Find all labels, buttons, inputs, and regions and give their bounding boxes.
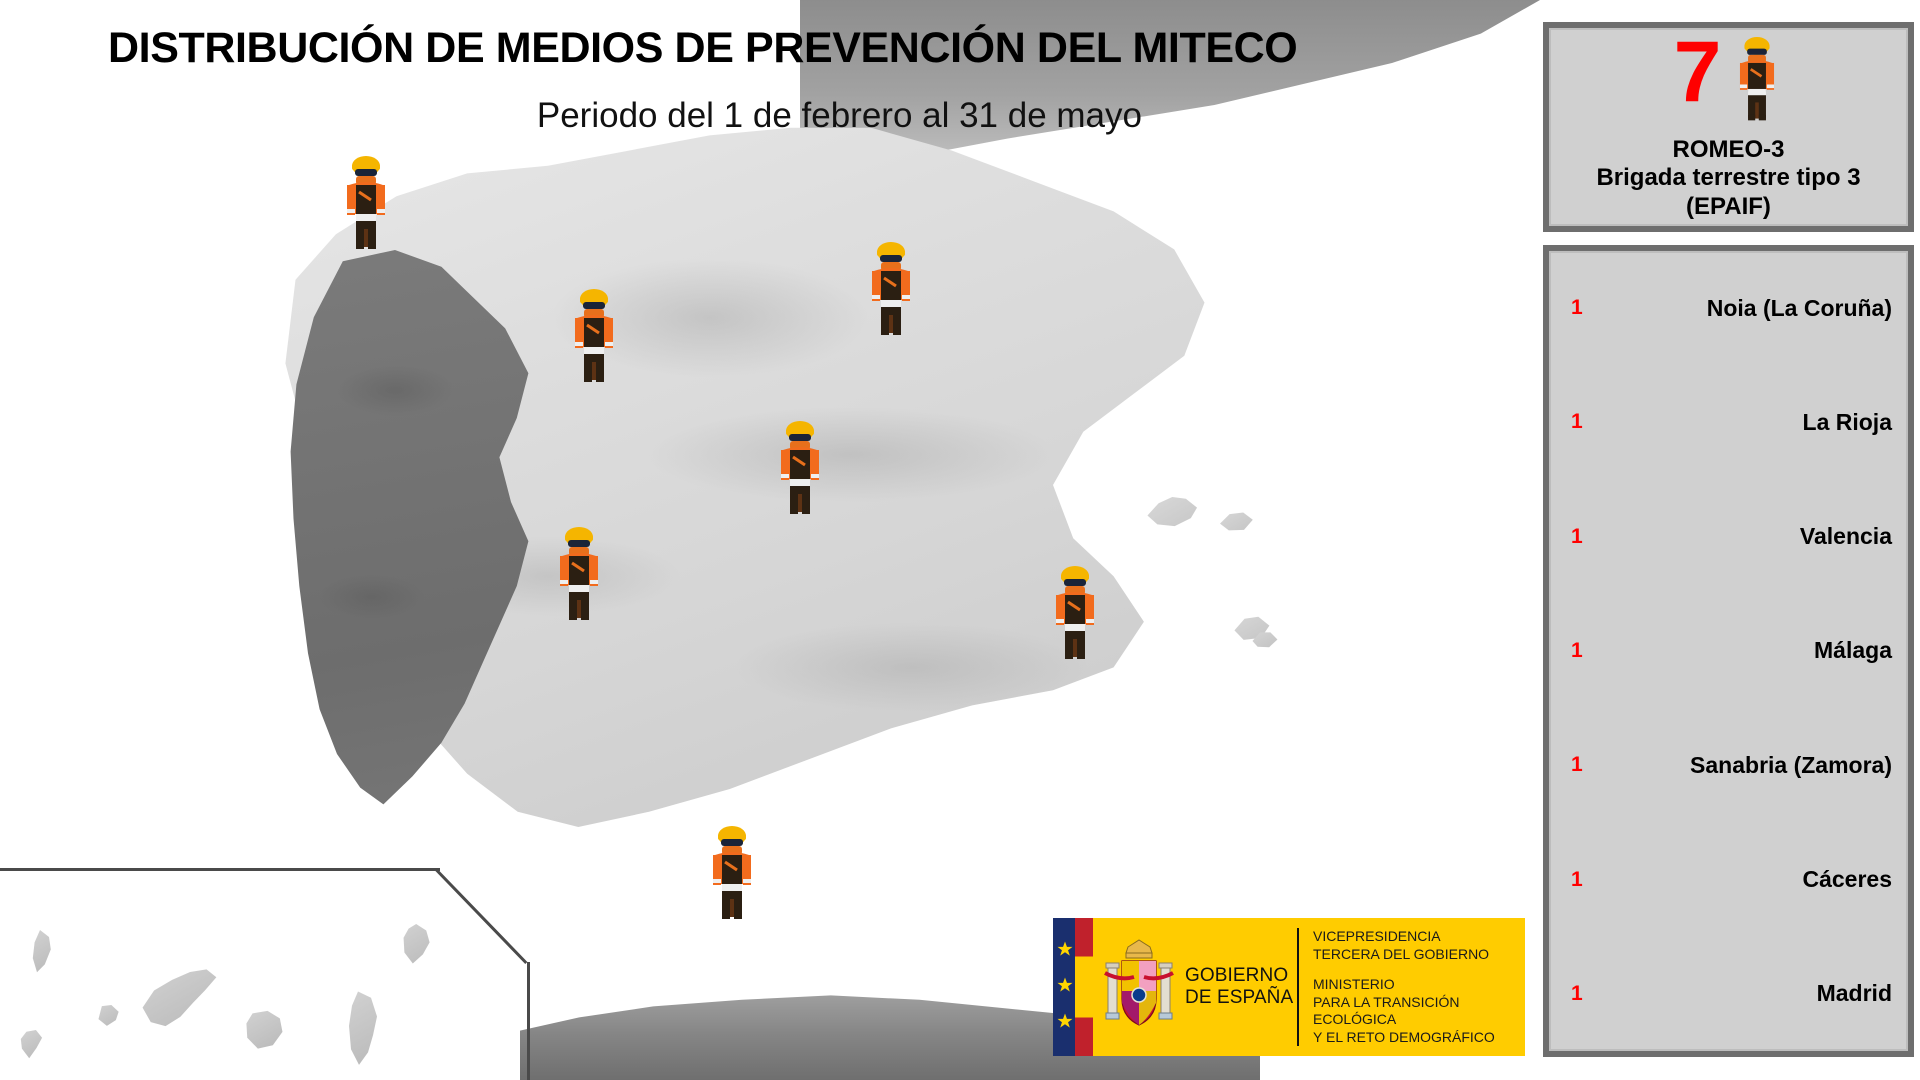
page-subtitle: Periodo del 1 de febrero al 31 de mayo [108,96,1528,136]
location-row[interactable]: 1Cáceres [1549,822,1908,936]
ministry-line-3: MINISTERIO [1313,976,1525,994]
marker-sanabria-zamora[interactable] [565,285,623,389]
location-name: Madrid [1549,980,1908,1007]
location-count: 1 [1571,296,1583,320]
gobierno-line-2: DE ESPAÑA [1185,987,1297,1009]
ministry-line-2: TERCERA DEL GOBIERNO [1313,946,1525,964]
summary-text: ROMEO-3 Brigada terrestre tipo 3 (EPAIF) [1596,136,1860,221]
ministry-line-5: Y EL RETO DEMOGRÁFICO [1313,1029,1525,1047]
location-row[interactable]: 1Valencia [1549,480,1908,594]
star-icon [1056,1012,1074,1035]
resource-code: ROMEO-3 [1596,136,1860,164]
legend-panel: 7 [1537,0,1920,1080]
island-lanzarote [396,924,438,970]
location-count: 1 [1571,525,1583,549]
island-la-palma [28,930,58,974]
resource-summary-card: 7 [1543,22,1914,232]
firefighter-icon [1731,32,1783,128]
location-list: 1Noia (La Coruña)1La Rioja1Valencia1Mála… [1543,245,1914,1057]
island-la-gomera [94,1004,122,1030]
star-icon [1056,940,1074,963]
poster-canvas: DISTRIBUCIÓN DE MEDIOS DE PREVENCIÓN DEL… [0,0,1920,1080]
ministry-line-4: PARA LA TRANSICIÓN ECOLÓGICA [1313,994,1525,1029]
inset-border-diagonal [435,868,527,964]
government-logo: GOBIERNO DE ESPAÑA VICEPRESIDENCIA TERCE… [1053,918,1525,1056]
marker-la-rioja[interactable] [862,238,920,342]
location-name: Málaga [1549,637,1908,664]
marker-madrid[interactable] [771,417,829,521]
island-tenerife [136,968,218,1034]
ministry-label: VICEPRESIDENCIA TERCERA DEL GOBIERNO MIN… [1299,918,1525,1056]
location-name: La Rioja [1549,409,1908,436]
location-name: Valencia [1549,523,1908,550]
marker-malaga[interactable] [703,822,761,926]
location-count: 1 [1571,753,1583,777]
marker-caceres[interactable] [550,523,608,627]
star-icon [1056,976,1074,999]
page-title: DISTRIBUCIÓN DE MEDIOS DE PREVENCIÓN DEL… [108,24,1528,73]
marker-valencia[interactable] [1046,562,1104,666]
location-count: 1 [1571,868,1583,892]
eu-stars [1055,918,1075,1056]
island-fuerteventura [340,990,390,1068]
location-count: 1 [1571,410,1583,434]
ministry-line-1: VICEPRESIDENCIA [1313,928,1525,946]
total-count: 7 [1674,32,1722,114]
location-row[interactable]: 1Málaga [1549,594,1908,708]
spain-coat-of-arms-icon [1093,918,1185,1056]
inset-border-right [527,962,530,1080]
location-row[interactable]: 1Sanabria (Zamora) [1549,708,1908,822]
resource-description: Brigada terrestre tipo 3 [1596,164,1860,192]
resource-acronym: (EPAIF) [1596,193,1860,221]
location-name: Cáceres [1549,866,1908,893]
summary-top-row: 7 [1549,28,1908,136]
location-name: Sanabria (Zamora) [1549,752,1908,779]
location-row[interactable]: 1Noia (La Coruña) [1549,251,1908,365]
inset-border-top [0,868,440,871]
marker-noia-la-coruna[interactable] [337,152,395,256]
canary-islands-inset [0,868,540,1080]
location-name: Noia (La Coruña) [1549,295,1908,322]
location-row[interactable]: 1Madrid [1549,937,1908,1051]
island-el-hierro [18,1030,46,1060]
location-row[interactable]: 1La Rioja [1549,365,1908,479]
flag-spain-band [1075,918,1093,1056]
ministry-spacer [1313,963,1525,976]
gobierno-de-espana-label: GOBIERNO DE ESPAÑA [1185,918,1297,1056]
location-count: 1 [1571,982,1583,1006]
island-gran-canaria [242,1010,286,1052]
eu-flag-bar [1053,918,1093,1056]
location-count: 1 [1571,639,1583,663]
gobierno-line-1: GOBIERNO [1185,965,1297,987]
